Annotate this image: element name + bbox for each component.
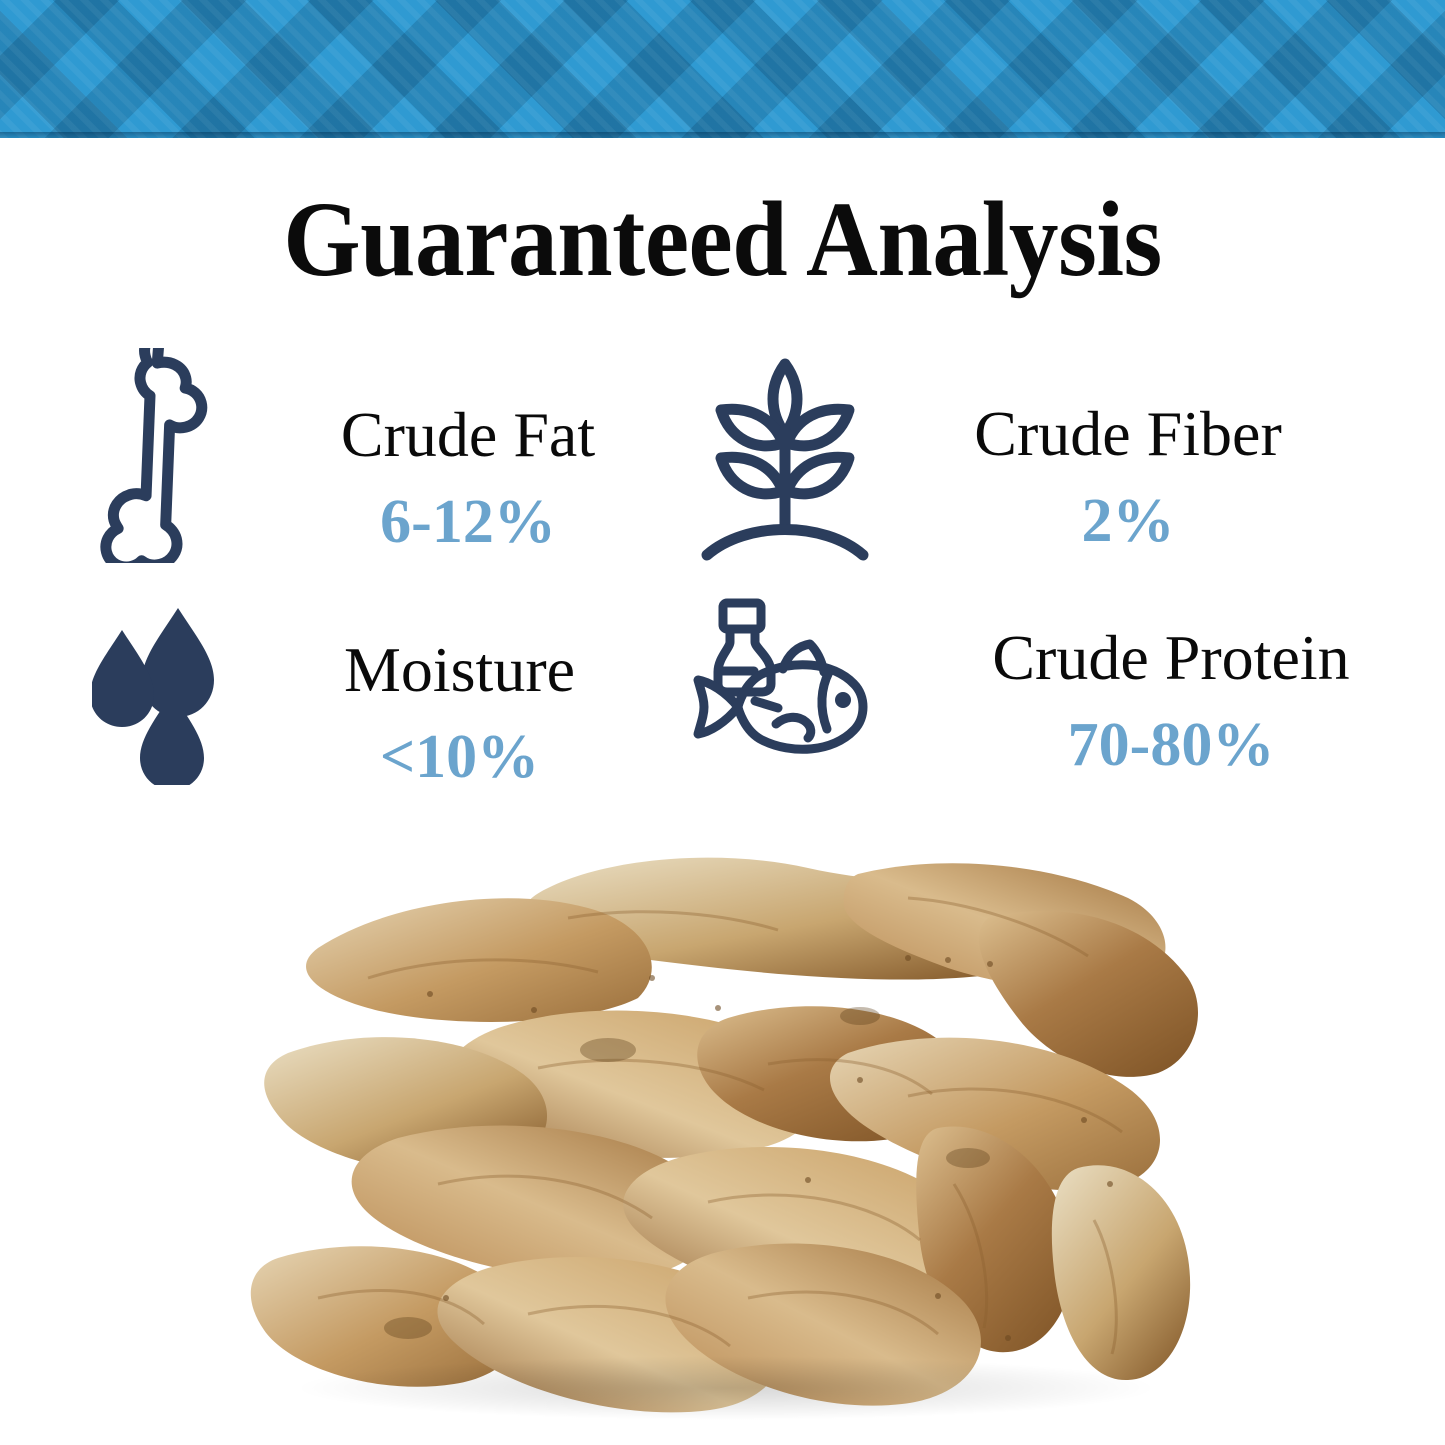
guaranteed-analysis-grid: Crude Fat 6-12% [0,348,1445,808]
analysis-value: <10% [237,726,682,788]
analysis-label: Crude Fiber [878,402,1378,466]
page-title: Guaranteed Analysis [51,184,1395,296]
water-drops-icon [92,600,232,785]
fish-oil-icon [688,596,888,766]
analysis-item-text: Crude Fiber 2% [878,402,1378,552]
wheat-plant-icon [698,352,873,564]
analysis-item-text: Crude Protein 70-80% [886,626,1445,776]
analysis-label: Crude Protein [886,626,1445,690]
product-photo [248,828,1203,1428]
analysis-item-text: Crude Fat 6-12% [258,403,678,553]
analysis-value: 70-80% [886,714,1445,776]
banner-bottom-edge [0,132,1445,138]
plaid-banner [0,0,1445,138]
banner-sheen-overlay [0,0,1445,138]
analysis-value: 6-12% [258,491,678,553]
bone-icon [88,348,258,563]
analysis-label: Crude Fat [258,403,678,467]
analysis-label: Moisture [237,638,682,702]
analysis-value: 2% [878,490,1378,552]
analysis-item-text: Moisture <10% [237,638,682,788]
